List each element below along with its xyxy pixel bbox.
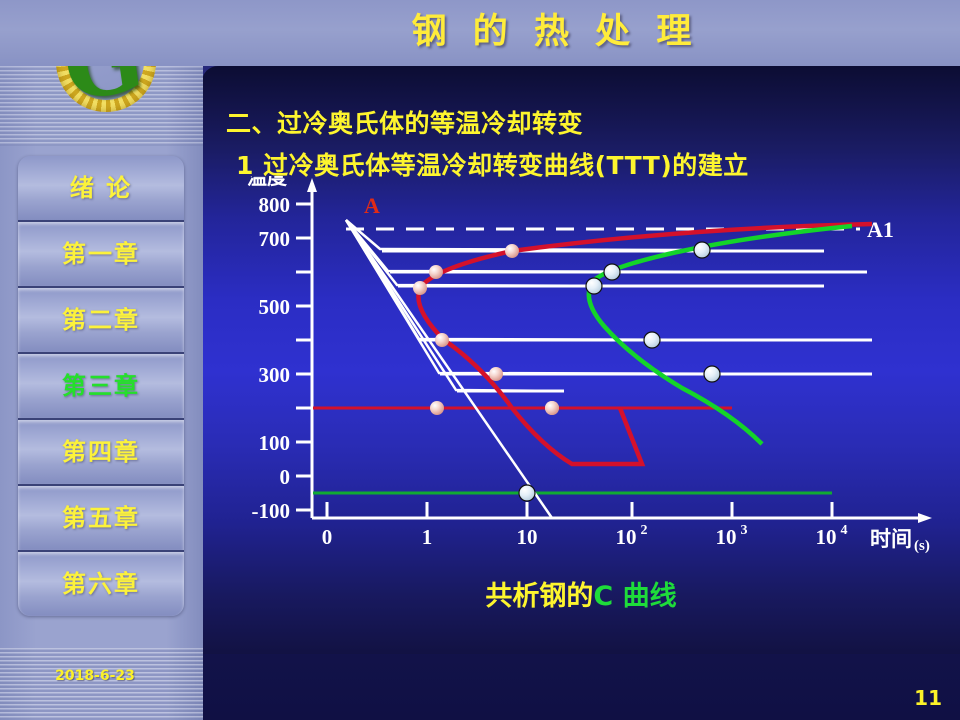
x-tick-1e4: 10 4 [816,523,848,549]
sidebar-item-chapter6[interactable]: 第六章 [18,550,184,616]
y-tick-500: 500 [259,295,291,319]
x-tick-0: 0 [322,525,333,549]
x-tick-1e3: 10 3 [716,523,748,549]
sidebar-stripes-bottom [0,648,203,720]
finish-curve-markers [586,242,720,382]
page-title: 钢 的 热 处 理 [380,6,730,58]
transformation-finish-curve [589,226,852,444]
caption-accent: C 曲线 [593,581,676,612]
top-banner: 钢 的 热 处 理 [0,0,960,66]
svg-text:10: 10 [616,525,637,549]
y-tick-neg100: -100 [252,499,291,523]
sidebar-item-chapter3[interactable]: 第三章 [18,352,184,418]
page-number: 11 [914,686,942,710]
y-axis [296,178,317,518]
x-tick-1: 1 [422,525,433,549]
svg-text:10: 10 [716,525,737,549]
svg-text:2: 2 [641,523,648,538]
sidebar-item-chapter2[interactable]: 第二章 [18,286,184,352]
y-tick-800: 800 [259,193,291,217]
cooling-curves [346,220,812,518]
a1-label: A1 [867,217,894,242]
mf-intersection-marker [519,485,535,501]
austenite-label: A [364,193,380,218]
x-tick-10: 10 [517,525,538,549]
sidebar-item-intro[interactable]: 绪 论 [18,156,184,220]
y-tick-100: 100 [259,431,291,455]
y-tick-0: 0 [280,465,291,489]
svg-text:4: 4 [841,523,848,538]
svg-text:3: 3 [741,523,748,538]
x-tick-labels: 0 1 10 10 2 10 3 10 4 [322,523,848,549]
x-axis-label: 时间 (s) [870,527,930,554]
slide: 二、过冷奥氏体的等温冷却转变 1 过冷奥氏体等温冷却转变曲线(TTT)的建立 [0,0,960,720]
chapter-menu: 绪 论 第一章 第二章 第三章 第四章 第五章 第六章 [18,156,184,616]
ms-intersection-marker [430,401,444,415]
content-panel: 二、过冷奥氏体的等温冷却转变 1 过冷奥氏体等温冷却转变曲线(TTT)的建立 [202,66,960,654]
sidebar-item-chapter4[interactable]: 第四章 [18,418,184,484]
x-tick-1e2: 10 2 [616,523,648,549]
y-axis-label: 温度 [247,176,288,189]
x-axis [312,502,932,523]
date-label: 2018-6-23 [0,668,190,684]
y-tick-labels: 800 700 500 300 100 0 -100 [252,193,291,523]
section-heading: 二、过冷奥氏体的等温冷却转变 [226,104,583,140]
y-tick-300: 300 [259,363,291,387]
svg-text:时间: 时间 [870,527,912,551]
ttt-diagram: 温度 800 700 500 300 100 0 -100 [212,176,952,576]
caption-main: 共析钢的 [485,581,593,612]
sidebar: G 绪 论 第一章 第二章 第三章 第四章 第五章 第六章 2018-6-23 [0,0,203,720]
svg-text:(s): (s) [914,538,930,554]
svg-text:10: 10 [816,525,837,549]
sidebar-item-chapter1[interactable]: 第一章 [18,220,184,286]
y-tick-700: 700 [259,227,291,251]
sidebar-item-chapter5[interactable]: 第五章 [18,484,184,550]
chart-caption: 共析钢的C 曲线 [202,574,960,613]
